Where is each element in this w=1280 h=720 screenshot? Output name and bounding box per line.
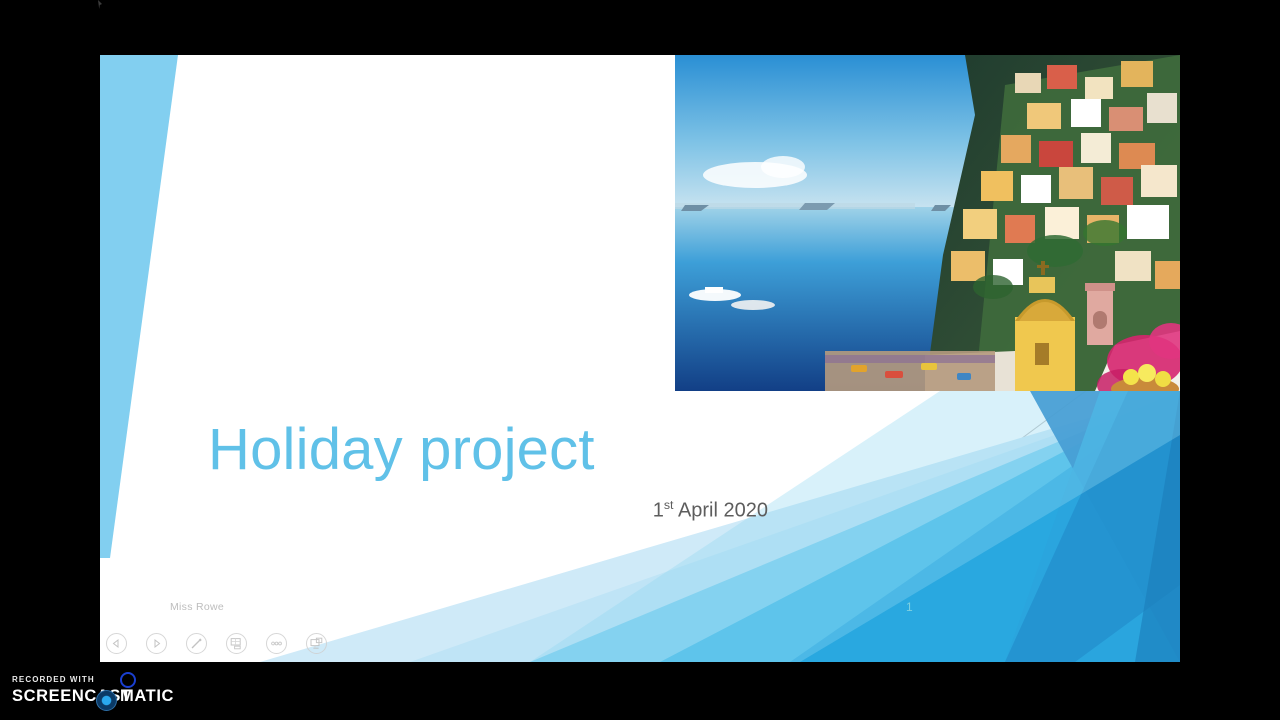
see-all-slides-button[interactable]: [226, 633, 247, 654]
slide-number: 1: [906, 600, 913, 614]
left-wedge-shape: [100, 55, 178, 558]
ellipsis-icon: [270, 641, 283, 646]
pen-tools-button[interactable]: [186, 633, 207, 654]
positano-illustration: [675, 55, 1180, 391]
slide-grid-icon: [230, 637, 243, 650]
mouse-cursor-icon: [98, 0, 102, 9]
slide-title: Holiday project: [208, 420, 768, 481]
slide-date: 1st April 2020: [208, 498, 768, 523]
chevron-right-icon: [152, 639, 161, 648]
holiday-photo: [675, 55, 1180, 391]
screencast-o-matic-watermark: RECORDED WITH SCREENCAST MATIC: [8, 672, 188, 716]
previous-slide-button[interactable]: [106, 633, 127, 654]
more-options-button[interactable]: [266, 633, 287, 654]
watermark-recorded-with: RECORDED WITH: [12, 675, 95, 684]
screen-root: Holiday project 1st April 2020 Miss Rowe…: [0, 0, 1280, 720]
record-dot-icon: [96, 690, 117, 711]
presenter-display-icon: [310, 637, 323, 650]
chevron-left-icon: [112, 639, 121, 648]
date-day: 1: [653, 500, 664, 522]
next-slide-button[interactable]: [146, 633, 167, 654]
slideshow-controls: [106, 633, 327, 654]
record-ring-icon: [120, 672, 136, 688]
presenter-view-button[interactable]: [306, 633, 327, 654]
date-rest: April 2020: [673, 500, 768, 522]
pen-icon: [190, 637, 203, 650]
watermark-brand-right: MATIC: [120, 687, 174, 706]
presenter-name: Miss Rowe: [170, 601, 224, 613]
presentation-slide[interactable]: Holiday project 1st April 2020 Miss Rowe…: [100, 55, 1180, 662]
